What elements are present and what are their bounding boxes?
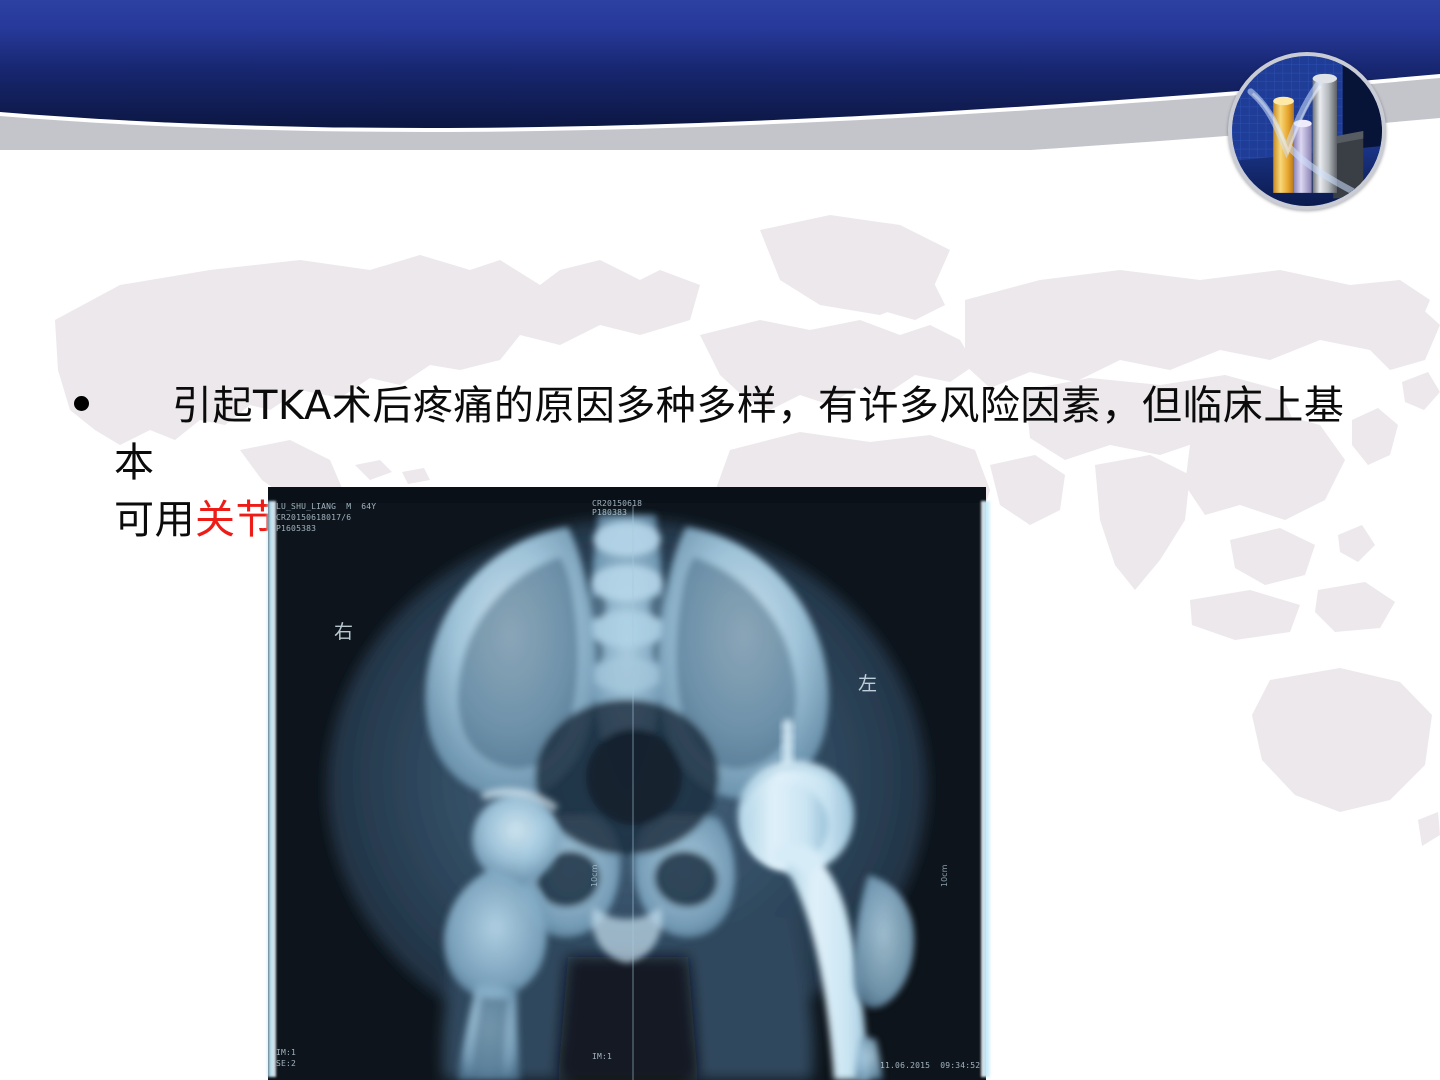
slide-canvas: 引起TKA术后疼痛的原因多种多样，有许多风险因素，但临床上基本可用关节外和关节内… [0,0,1440,1080]
xray-header-center-line2: P180383 [592,508,627,519]
xray-left-edge-glow [266,501,276,1077]
bullet-line2-prefix: 可用 [114,497,195,543]
xray-side-marker-right: 右 [334,617,353,644]
xray-image-container: LU_SHU_LIANG M 64Y CR20150618017/6 P1605… [240,487,1000,1080]
bullet-marker-icon [74,396,89,411]
xray-footer-center: IM:1 [592,1052,612,1063]
slide-header [0,0,1440,150]
bullet-line1-text: 引起TKA术后疼痛的原因多种多样，有许多风险因素，但临床上基本 [114,383,1344,486]
pelvis-ap-radiograph [268,487,986,1080]
xray-scale-label-right: 10cm [940,865,949,887]
xray-right-edge-glow [981,501,991,1077]
xray-footer-left: IM:1 SE:2 [276,1048,296,1070]
xray-scale-label-center: 10cm [590,865,599,887]
logo-3d-bar-chart-icon [1228,52,1386,210]
xray-patient-header-left: LU_SHU_LIANG M 64Y CR20150618017/6 P1605… [276,502,376,534]
xray-footer-timestamp: 11.06.2015 09:34:52 [880,1061,980,1072]
xray-side-marker-left: 左 [858,669,877,696]
